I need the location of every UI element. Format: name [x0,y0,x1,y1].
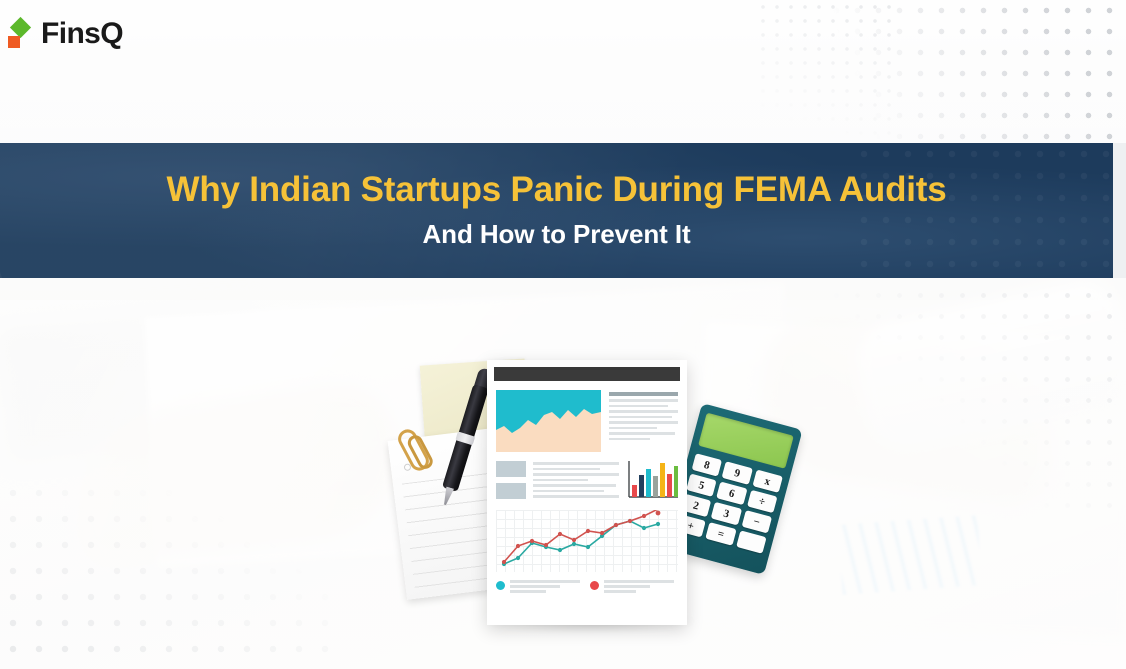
report-document [487,360,687,625]
text-line [533,468,600,471]
text-line [609,438,650,441]
line-chart-svg [496,510,678,572]
text-line [533,473,619,476]
calculator-key[interactable]: x [752,469,783,492]
legend-dot-teal-icon [496,581,505,590]
legend-item [496,580,580,593]
area-chart-svg [496,390,601,452]
brand-logo[interactable]: FinsQ [8,18,123,50]
calculator-key[interactable]: 9 [722,461,753,484]
text-line [609,399,678,402]
banner-content: Why Indian Startups Panic During FEMA Au… [0,143,1113,278]
legend-text-lines [604,580,674,593]
calculator-key[interactable] [736,530,767,553]
thumbnail-block [496,483,526,499]
logo-diamond-icon [10,17,31,38]
document-row-top [496,390,678,452]
legend-text-lines [510,580,580,593]
document-header-bar [494,367,680,381]
calculator-key[interactable]: 5 [686,473,717,496]
text-line [609,405,668,408]
text-line [609,416,672,419]
text-line [533,484,616,487]
text-line [533,490,604,493]
thumbnail-block [496,461,526,477]
bar-chart [626,461,678,501]
calculator-key[interactable]: ÷ [747,490,778,513]
document-row-middle [496,461,678,501]
text-line [533,479,588,482]
document-body [487,381,687,593]
calculator-key[interactable]: 3 [711,502,742,525]
legend-dot-red-icon [590,581,599,590]
finance-illustration: 8 9 x 5 6 ÷ 2 3 − + = [395,352,795,632]
title-banner: Why Indian Startups Panic During FEMA Au… [0,143,1113,278]
text-line [533,462,619,465]
page-title: Why Indian Startups Panic During FEMA Au… [166,171,946,208]
text-line [609,410,678,413]
document-thumbnails [496,461,526,501]
document-text-block-top [609,390,678,452]
calculator-key[interactable]: = [706,522,737,545]
brand-name: FinsQ [41,19,123,49]
calculator-key[interactable]: 8 [692,453,723,476]
calculator-key[interactable]: 6 [716,482,747,505]
page-root: FinsQ Why Indian Startups Panic During F… [0,0,1126,669]
calculator-keypad: 8 9 x 5 6 ÷ 2 3 − + = [675,453,783,554]
halftone-dots-bottom-right [826,285,1126,515]
area-chart [496,390,601,452]
bar-chart-svg [626,461,678,501]
halftone-dots-top-right-fine [756,0,896,150]
text-line [533,495,619,498]
calculator-key[interactable]: − [741,510,772,533]
banner-right-edge [1113,143,1126,278]
halftone-dots-bottom-left [0,480,330,669]
logo-square-icon [8,36,20,48]
logo-mark-icon [8,18,34,50]
text-line [609,427,657,430]
line-chart [496,510,678,572]
text-heading-line [609,392,678,396]
chart-legend [496,580,678,593]
text-line [609,421,678,424]
legend-item [590,580,674,593]
document-text-block-middle [533,461,619,501]
text-line [609,432,675,435]
page-subtitle: And How to Prevent It [422,219,690,250]
